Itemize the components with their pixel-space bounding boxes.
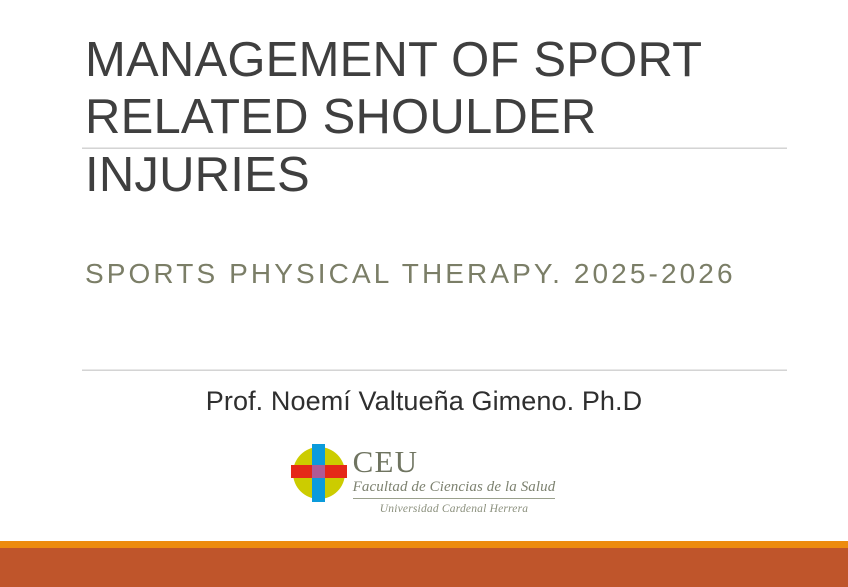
logo-faculty-name: Facultad de Ciencias de la Salud bbox=[353, 478, 556, 499]
author-name: Prof. Noemí Valtueña Gimeno. Ph.D bbox=[0, 386, 848, 417]
logo-text-block: CEU Facultad de Ciencias de la Salud Uni… bbox=[353, 444, 556, 517]
logo-inner: CEU Facultad de Ciencias de la Salud Uni… bbox=[293, 444, 556, 517]
accent-band-thick bbox=[0, 548, 848, 587]
page-title: MANAGEMENT OF SPORT RELATED SHOULDER INJ… bbox=[85, 32, 787, 204]
divider-rule-bottom bbox=[82, 369, 787, 371]
accent-band-thin bbox=[0, 541, 848, 548]
logo-center-square-shape bbox=[312, 465, 325, 478]
title-block: MANAGEMENT OF SPORT RELATED SHOULDER INJ… bbox=[85, 32, 787, 204]
ceu-logo: CEU Facultad de Ciencias de la Salud Uni… bbox=[0, 444, 848, 517]
logo-acronym: CEU bbox=[353, 446, 556, 477]
divider-rule-top bbox=[82, 147, 787, 149]
ceu-cross-logo-icon bbox=[293, 444, 345, 502]
presentation-slide: MANAGEMENT OF SPORT RELATED SHOULDER INJ… bbox=[0, 0, 848, 587]
logo-university-name: Universidad Cardenal Herrera bbox=[353, 502, 556, 517]
slide-subtitle: SPORTS PHYSICAL THERAPY. 2025-2026 bbox=[85, 258, 736, 290]
